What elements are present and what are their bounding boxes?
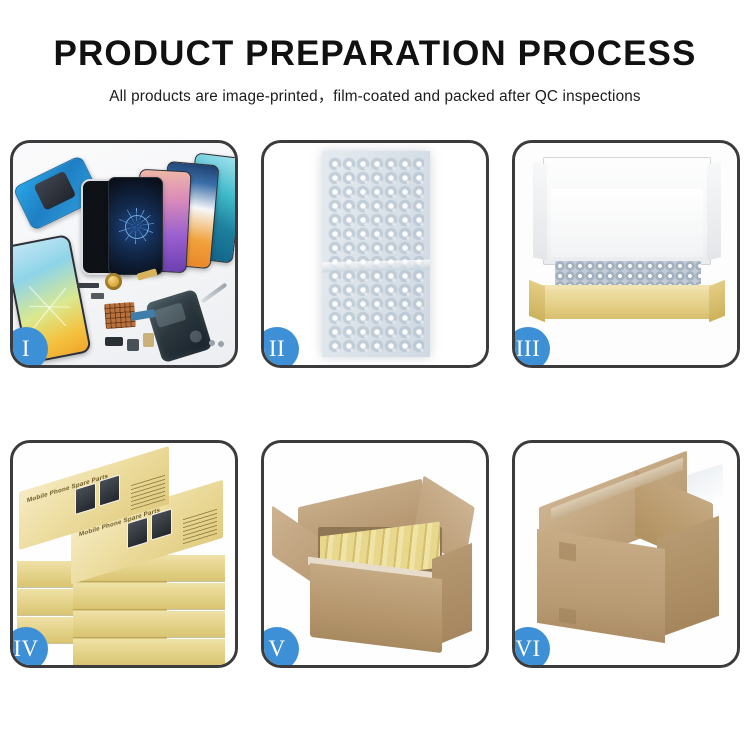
step-3-image — [515, 143, 737, 365]
stacked-box-front-5 — [73, 639, 225, 665]
process-step-2: II — [261, 140, 489, 368]
step-5-image — [264, 443, 486, 665]
screws-part — [209, 339, 225, 347]
header: PRODUCT PREPARATION PROCESS All products… — [0, 0, 750, 106]
chip-part-2 — [77, 283, 99, 288]
process-step-4: Mobile Phone Spare Parts Mobile Phone Sp… — [10, 440, 238, 668]
bubble-highlights — [328, 157, 424, 353]
stacked-box-front-4 — [73, 611, 225, 637]
connector-part-2 — [127, 339, 139, 351]
printed-box-1: Mobile Phone Spare Parts — [19, 469, 169, 529]
carton-tab-lower — [559, 608, 576, 625]
foam-insert — [551, 189, 703, 257]
connector-part-1 — [105, 337, 123, 346]
carton-tab-upper — [559, 542, 576, 562]
step-1-image — [13, 143, 235, 365]
page-title: PRODUCT PREPARATION PROCESS — [0, 0, 750, 73]
process-step-3: III — [512, 140, 740, 368]
chip-part-1 — [91, 293, 104, 299]
process-step-grid: I II III — [10, 140, 741, 676]
process-step-1: I — [10, 140, 238, 368]
process-step-5: V — [261, 440, 489, 668]
connector-part-3 — [143, 333, 154, 347]
carton-front-panel — [537, 529, 665, 643]
page-subtitle: All products are image-printed，film-coat… — [0, 73, 750, 106]
dark-cracked-screen — [108, 177, 163, 275]
step-4-image: Mobile Phone Spare Parts Mobile Phone Sp… — [13, 443, 235, 665]
kraft-box-front — [541, 289, 713, 319]
stacked-box-front-3 — [73, 583, 225, 609]
process-step-6: VI — [512, 440, 740, 668]
gold-coil-part — [105, 273, 122, 290]
step-2-image — [264, 143, 486, 365]
retail-box-stack: Mobile Phone Spare Parts Mobile Phone Sp… — [13, 443, 235, 665]
step-6-image — [515, 443, 737, 665]
